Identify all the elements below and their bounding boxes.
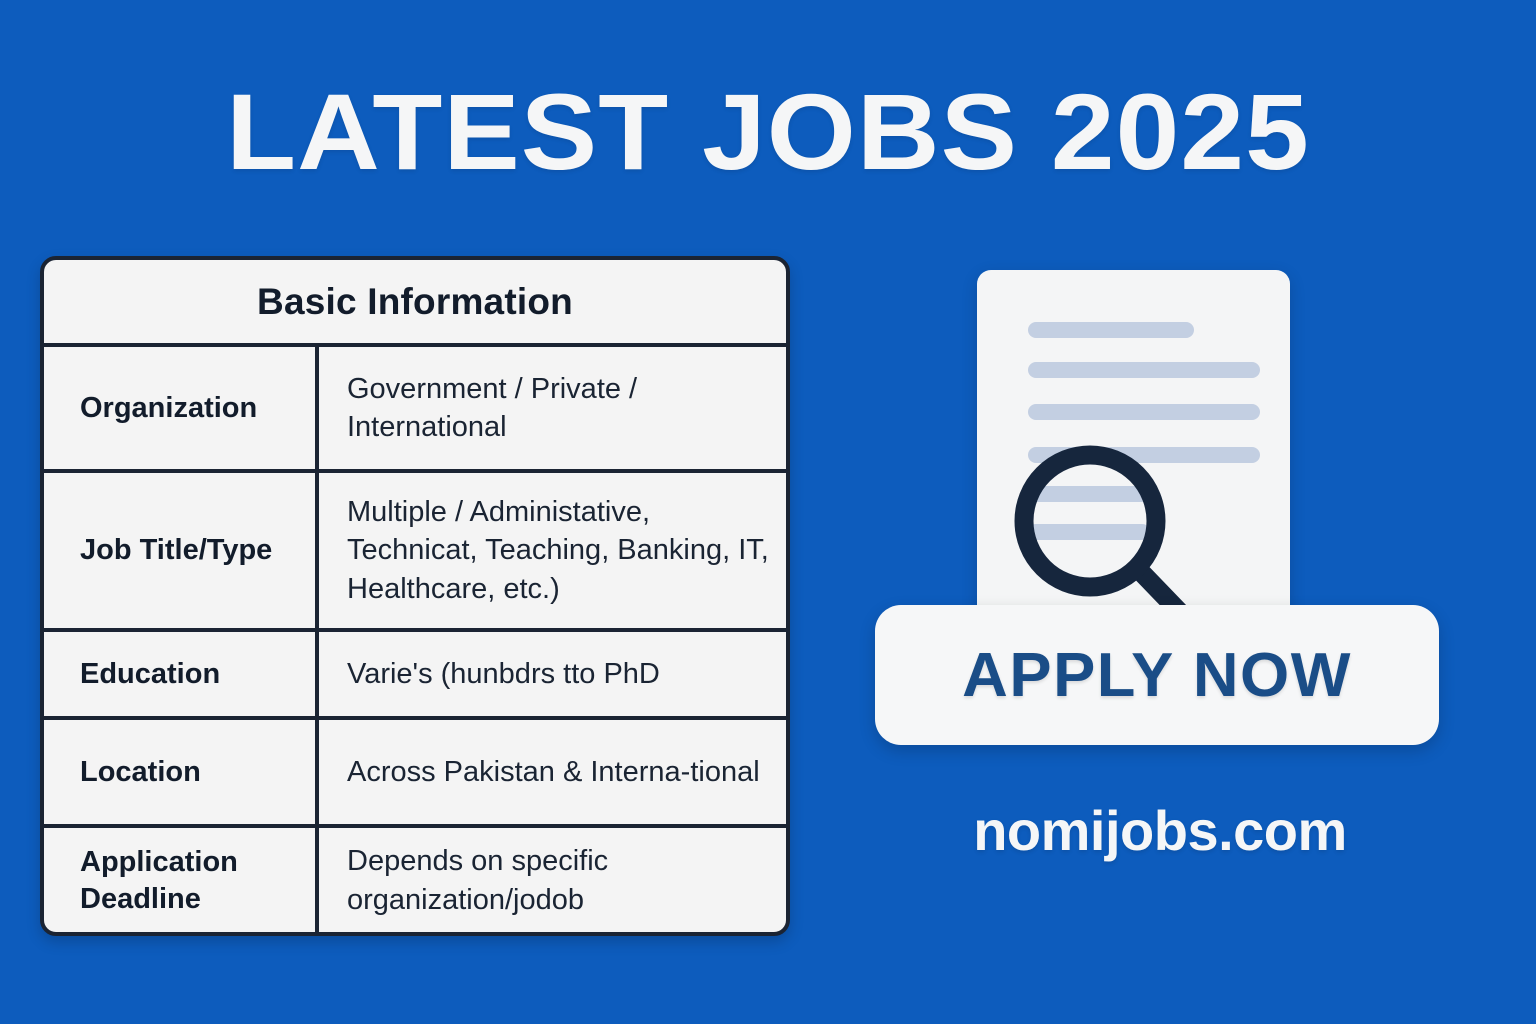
row-value-organization: Government / Private / International: [319, 347, 786, 469]
row-value-application-deadline: Depends on specific organization/jodob: [319, 828, 786, 933]
row-label-location: Location: [44, 720, 319, 824]
website-url: nomijobs.com: [860, 798, 1460, 863]
document-text-line: [1028, 322, 1194, 338]
row-label-education: Education: [44, 632, 319, 716]
row-label-organization: Organization: [44, 347, 319, 469]
table-row: Application Deadline Depends on specific…: [44, 828, 786, 933]
table-row: Education Varie's (hunbdrs tto PhD: [44, 632, 786, 720]
row-value-location: Across Pakistan & Interna-tional: [319, 720, 786, 824]
basic-information-table: Basic Information Organization Governmen…: [40, 256, 790, 936]
job-search-illustration: APPLY NOW nomijobs.com: [860, 256, 1460, 956]
table-heading: Basic Information: [44, 260, 786, 347]
document-text-line: [1028, 524, 1150, 540]
page-title: LATEST JOBS 2025: [0, 78, 1536, 186]
apply-now-label: APPLY NOW: [962, 640, 1352, 711]
apply-now-button[interactable]: APPLY NOW: [875, 605, 1439, 745]
document-text-line: [1028, 486, 1150, 502]
row-value-job-title-type: Multiple / Administative, Technicat, Tea…: [319, 473, 786, 628]
table-row: Organization Government / Private / Inte…: [44, 347, 786, 473]
table-row: Job Title/Type Multiple / Administative,…: [44, 473, 786, 632]
document-text-line: [1028, 447, 1260, 463]
row-label-job-title-type: Job Title/Type: [44, 473, 319, 628]
row-label-application-deadline: Application Deadline: [44, 828, 319, 933]
document-icon: [977, 270, 1290, 630]
table-row: Location Across Pakistan & Interna-tiona…: [44, 720, 786, 828]
row-value-education: Varie's (hunbdrs tto PhD: [319, 632, 786, 716]
document-text-line: [1028, 362, 1260, 378]
document-text-line: [1028, 404, 1260, 420]
